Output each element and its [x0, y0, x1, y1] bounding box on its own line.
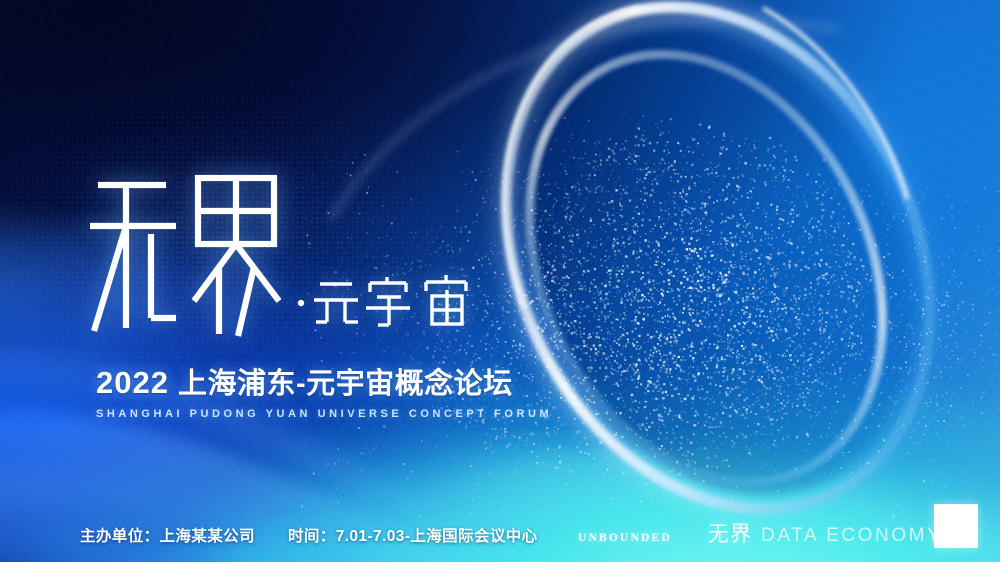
- poster-canvas: 2022上海浦东-元宇宙概念论坛 SHANGHAI PUDONG YUAN UN…: [0, 0, 1000, 562]
- footer-host-info: 主办单位：上海某某公司: [80, 524, 255, 546]
- footer-strip: 主办单位：上海某某公司 时间：7.01-7.03-上海国际会议中心 UNBOUN…: [0, 504, 1000, 562]
- footer-brand-english: DATA ECONOMY: [761, 525, 942, 547]
- footer-time-info: 时间：7.01-7.03-上海国际会议中心: [288, 524, 538, 546]
- headline-wuji-logotype: [88, 168, 284, 338]
- subtitle-chinese: 2022上海浦东-元宇宙概念论坛: [96, 366, 656, 401]
- subtitle-year: 2022: [96, 365, 169, 400]
- footer-tagline-unbounded: UNBOUNDED: [578, 532, 672, 544]
- footer-brand-chinese: 无界: [708, 518, 752, 548]
- poster-content: 2022上海浦东-元宇宙概念论坛 SHANGHAI PUDONG YUAN UN…: [0, 0, 1000, 562]
- subtitle-english: SHANGHAI PUDONG YUAN UNIVERSE CONCEPT FO…: [96, 408, 656, 420]
- headline-metaverse-logotype: [294, 270, 476, 332]
- qr-code-placeholder[interactable]: [934, 504, 978, 548]
- subtitle-block: 2022上海浦东-元宇宙概念论坛 SHANGHAI PUDONG YUAN UN…: [96, 366, 656, 420]
- footer-brand-lockup: 无界 DATA ECONOMY: [708, 518, 942, 548]
- subtitle-chinese-text: 上海浦东-元宇宙概念论坛: [178, 368, 513, 400]
- headline-row: [88, 168, 476, 338]
